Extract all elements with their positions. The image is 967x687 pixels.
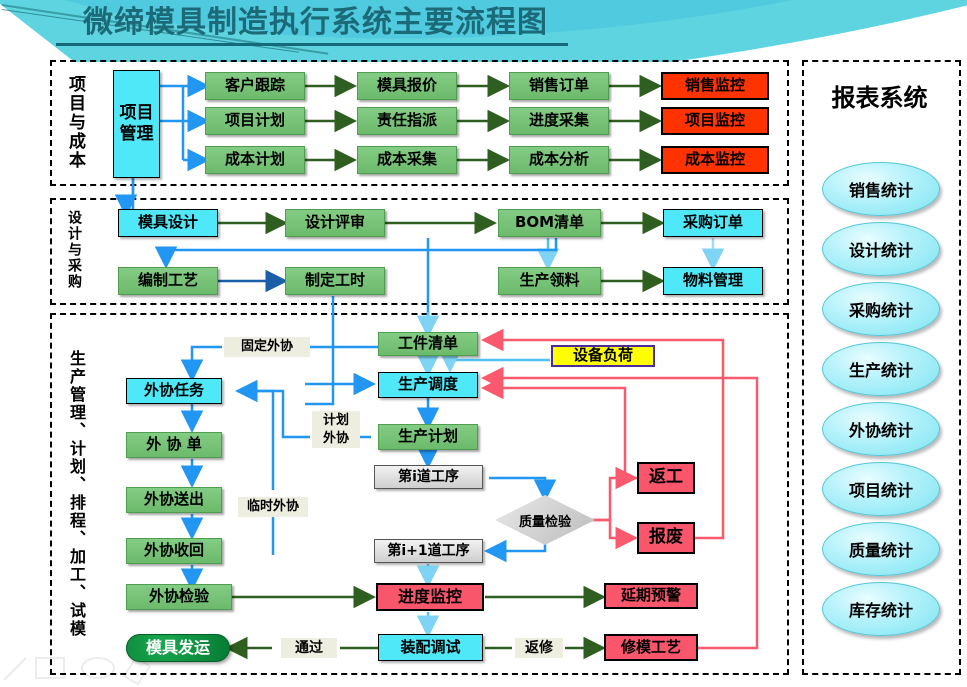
title-underline bbox=[56, 43, 568, 46]
node-production-plan[interactable]: 生产计划 bbox=[378, 424, 478, 450]
node-outsource-receive[interactable]: 外协收回 bbox=[126, 538, 222, 564]
page-title: 微缔模具制造执行系统主要流程图 bbox=[83, 6, 548, 40]
node-production-picking[interactable]: 生产领料 bbox=[498, 267, 601, 295]
node-bom-list[interactable]: BOM清单 bbox=[498, 209, 601, 237]
node-scrap[interactable]: 报废 bbox=[637, 522, 695, 554]
node-assembly-debug[interactable]: 装配调试 bbox=[378, 634, 483, 661]
node-customer-tracking[interactable]: 客户跟踪 bbox=[205, 72, 305, 100]
section-label-design-purchase: 设计与采购 bbox=[62, 210, 84, 290]
report-item-production[interactable]: 生产统计 bbox=[822, 342, 940, 396]
node-mold-design[interactable]: 模具设计 bbox=[118, 209, 218, 237]
quality-check-label: 质量检验 bbox=[495, 495, 595, 545]
report-panel-title: 报表系统 bbox=[802, 78, 957, 113]
report-item-project[interactable]: 项目统计 bbox=[822, 462, 940, 516]
section-label-production: 生产管理、计划、排程、加工、试模 bbox=[62, 322, 88, 666]
node-progress-monitor[interactable]: 进度监控 bbox=[376, 583, 484, 611]
node-cost-monitor[interactable]: 成本监控 bbox=[661, 146, 769, 174]
node-progress-collect[interactable]: 进度采集 bbox=[509, 107, 609, 135]
node-outsource-send[interactable]: 外协送出 bbox=[126, 487, 222, 513]
edge-label-planned-outsource-line2: 外协 bbox=[312, 429, 360, 448]
node-mold-quotation[interactable]: 模具报价 bbox=[357, 72, 457, 100]
report-item-inventory[interactable]: 库存统计 bbox=[822, 582, 940, 636]
report-item-quality[interactable]: 质量统计 bbox=[822, 522, 940, 576]
report-item-sales[interactable]: 销售统计 bbox=[822, 162, 940, 216]
node-quality-check[interactable]: 质量检验 bbox=[495, 495, 595, 545]
node-production-scheduling[interactable]: 生产调度 bbox=[378, 372, 478, 398]
node-process-planning[interactable]: 编制工艺 bbox=[118, 267, 218, 295]
report-item-purchase[interactable]: 采购统计 bbox=[822, 282, 940, 336]
node-sales-order[interactable]: 销售订单 bbox=[509, 72, 609, 100]
node-project-plan[interactable]: 项目计划 bbox=[205, 107, 305, 135]
node-project-monitor[interactable]: 项目监控 bbox=[661, 107, 769, 135]
report-item-design[interactable]: 设计统计 bbox=[822, 222, 940, 276]
node-delay-alert[interactable]: 延期预警 bbox=[604, 583, 698, 609]
node-equipment-load[interactable]: 设备负荷 bbox=[551, 345, 655, 367]
node-sales-monitor[interactable]: 销售监控 bbox=[661, 72, 769, 100]
node-process-step-i[interactable]: 第i道工序 bbox=[374, 465, 483, 489]
flowchart-canvas: 微缔模具制造执行系统主要流程图 bbox=[0, 0, 967, 687]
report-item-outsourcing[interactable]: 外协统计 bbox=[822, 402, 940, 456]
node-outsource-order[interactable]: 外 协 单 bbox=[126, 432, 222, 458]
node-responsibility-assign[interactable]: 责任指派 bbox=[357, 107, 457, 135]
edge-label-repair: 返修 bbox=[515, 638, 563, 658]
node-outsource-inspection[interactable]: 外协检验 bbox=[126, 584, 232, 610]
section-label-project-cost: 项目与成本 bbox=[62, 68, 88, 176]
node-rework[interactable]: 返工 bbox=[637, 462, 695, 494]
edge-label-pass: 通过 bbox=[281, 638, 337, 658]
node-repair-process[interactable]: 修模工艺 bbox=[604, 634, 698, 661]
node-mold-shipment[interactable]: 模具发运 bbox=[126, 634, 230, 662]
node-cost-analysis[interactable]: 成本分析 bbox=[509, 146, 609, 174]
node-material-management[interactable]: 物料管理 bbox=[663, 267, 763, 295]
node-project-management[interactable]: 项目管理 bbox=[113, 70, 160, 178]
node-purchase-order[interactable]: 采购订单 bbox=[663, 209, 763, 237]
edge-label-planned-outsource-line1: 计划 bbox=[312, 411, 360, 430]
edge-label-temp-outsource: 临时外协 bbox=[238, 497, 308, 517]
node-process-step-i-plus-1[interactable]: 第i+1道工序 bbox=[374, 539, 483, 563]
node-cost-plan[interactable]: 成本计划 bbox=[205, 146, 305, 174]
node-cost-collect[interactable]: 成本采集 bbox=[357, 146, 457, 174]
node-workpiece-list[interactable]: 工件清单 bbox=[378, 332, 478, 356]
node-outsource-task[interactable]: 外协任务 bbox=[126, 378, 222, 404]
edge-label-fixed-outsource: 固定外协 bbox=[224, 337, 310, 357]
node-design-review[interactable]: 设计评审 bbox=[285, 209, 385, 237]
node-work-hours[interactable]: 制定工时 bbox=[285, 267, 385, 295]
